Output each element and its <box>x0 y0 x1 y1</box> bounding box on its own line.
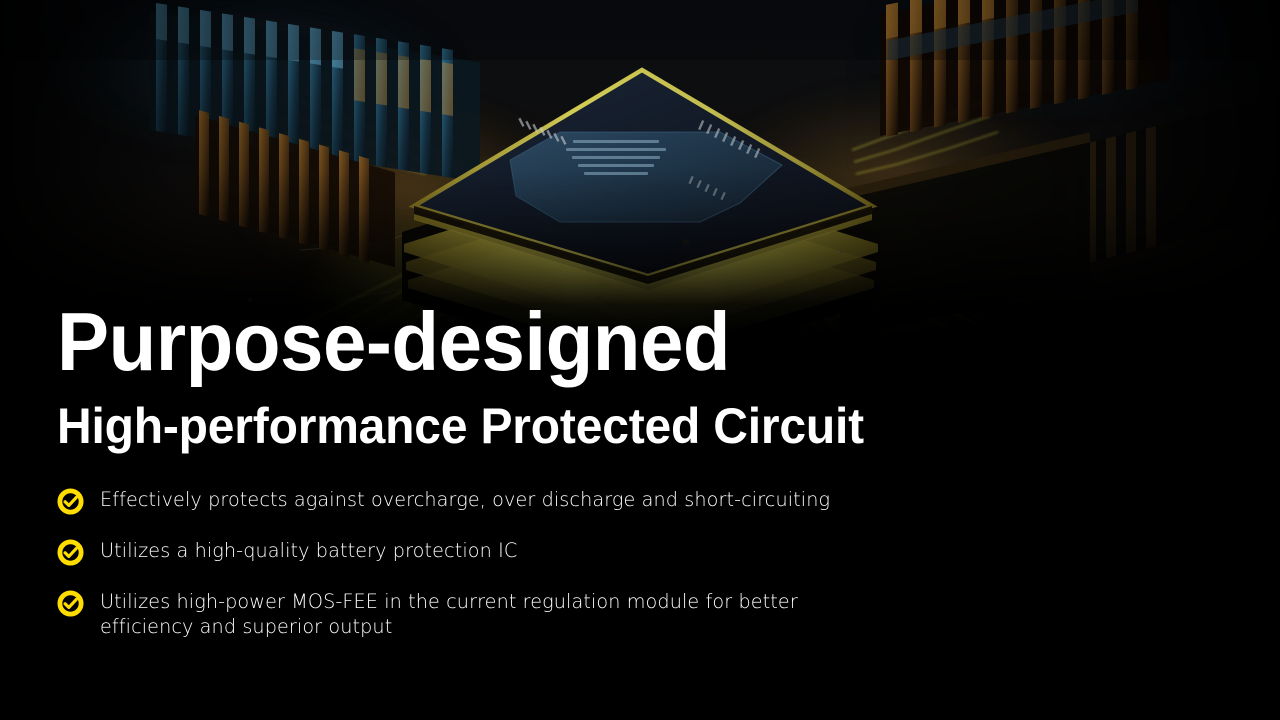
list-item-label: Utilizes a high-quality battery protecti… <box>100 538 517 563</box>
slide-content: Purpose-designed High-performance Protec… <box>57 300 1157 639</box>
check-circle-icon <box>57 488 84 515</box>
headline: Purpose-designed <box>57 300 1091 383</box>
check-circle-icon <box>57 590 84 617</box>
list-item: Utilizes high-power MOS-FEE in the curre… <box>57 589 1157 639</box>
feature-bullet-list: Effectively protects against overcharge,… <box>57 487 1157 639</box>
list-item: Effectively protects against overcharge,… <box>57 487 1157 515</box>
list-item-label: Effectively protects against overcharge,… <box>100 487 830 512</box>
check-circle-icon <box>57 539 84 566</box>
list-item-label: Utilizes high-power MOS-FEE in the curre… <box>100 589 888 639</box>
list-item: Utilizes a high-quality battery protecti… <box>57 538 1157 566</box>
subheadline: High-performance Protected Circuit <box>57 401 1113 451</box>
slide-root: Purpose-designed High-performance Protec… <box>0 0 1280 720</box>
